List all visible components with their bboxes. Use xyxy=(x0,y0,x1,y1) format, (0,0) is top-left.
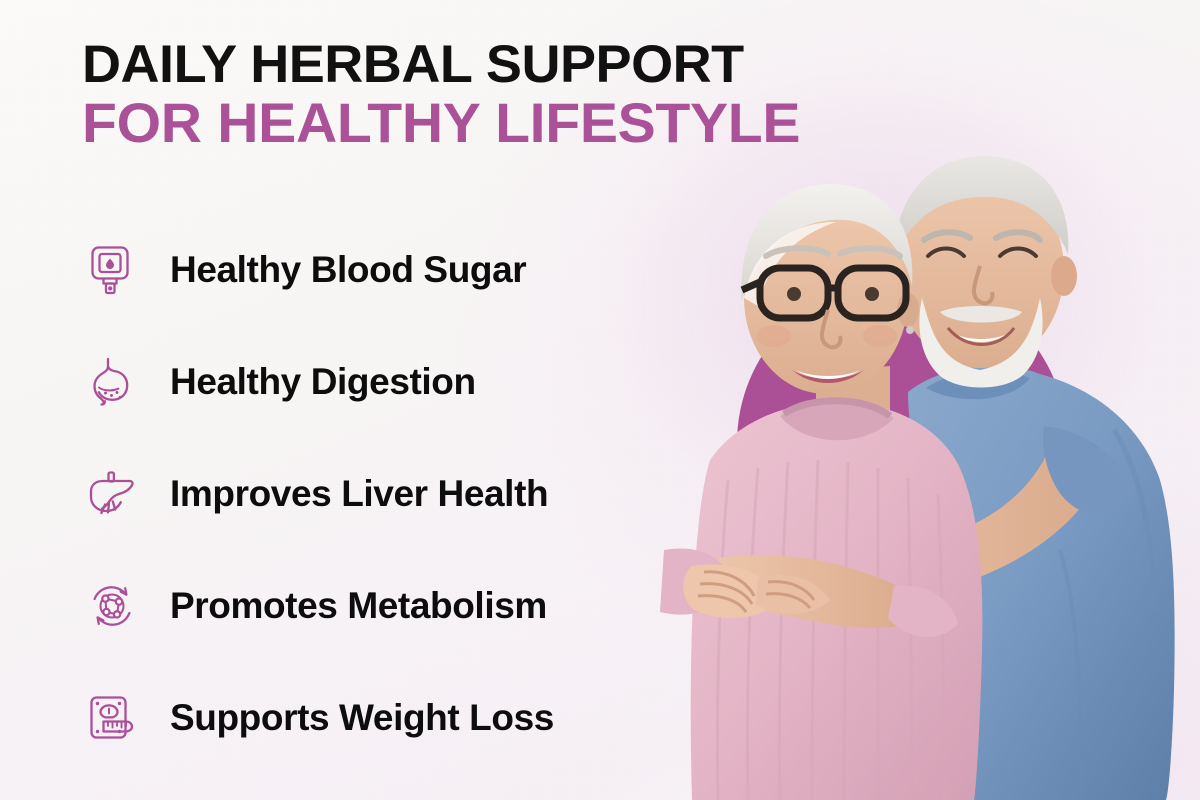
weight-scale-icon xyxy=(84,690,140,746)
headline-line-2: FOR HEALTHY LIFESTYLE xyxy=(82,94,800,152)
stomach-icon xyxy=(84,354,140,410)
benefit-row-healthy-blood-sugar: Healthy Blood Sugar xyxy=(84,236,554,304)
benefit-row-supports-weight-loss: Supports Weight Loss xyxy=(84,684,554,752)
glucometer-icon xyxy=(84,242,140,298)
benefit-label-improves-liver-health: Improves Liver Health xyxy=(170,474,548,514)
metabolism-icon xyxy=(84,578,140,634)
benefit-label-healthy-digestion: Healthy Digestion xyxy=(170,362,476,402)
benefit-row-promotes-metabolism: Promotes Metabolism xyxy=(84,572,554,640)
benefits-list: Healthy Blood Sugar Healthy Digestion xyxy=(84,236,554,752)
headline-block: DAILY HERBAL SUPPORT FOR HEALTHY LIFESTY… xyxy=(82,36,786,152)
senior-couple-photo xyxy=(640,130,1200,800)
benefit-label-healthy-blood-sugar: Healthy Blood Sugar xyxy=(170,250,526,290)
benefit-label-promotes-metabolism: Promotes Metabolism xyxy=(170,586,547,626)
headline-line-1: DAILY HERBAL SUPPORT xyxy=(82,36,800,94)
promotional-banner: DAILY HERBAL SUPPORT FOR HEALTHY LIFESTY… xyxy=(0,0,1200,800)
benefit-row-improves-liver-health: Improves Liver Health xyxy=(84,460,554,528)
benefit-label-supports-weight-loss: Supports Weight Loss xyxy=(170,698,554,738)
liver-icon xyxy=(84,466,140,522)
benefit-row-healthy-digestion: Healthy Digestion xyxy=(84,348,554,416)
